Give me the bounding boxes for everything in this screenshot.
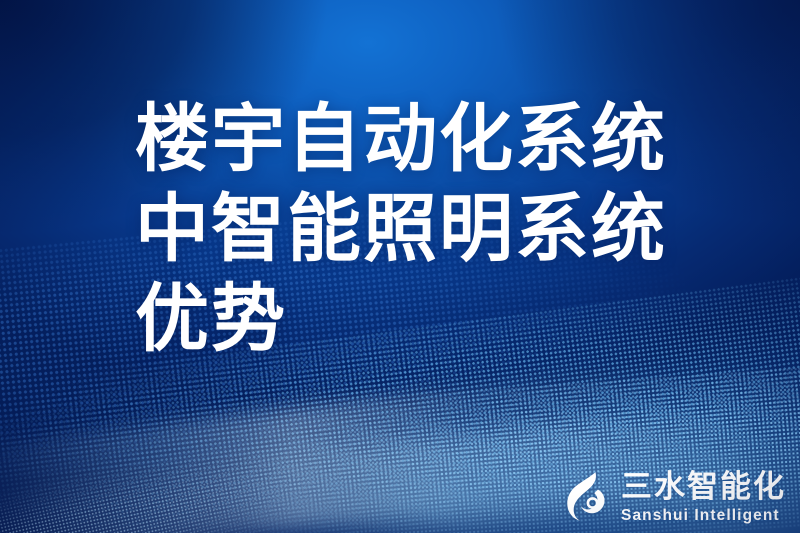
page-title: 楼宇自动化系统 中智能照明系统 优势 (135, 94, 715, 364)
page-title-line-1: 楼宇自动化系统 (135, 94, 715, 184)
brand-logo: 三水智能化 Sanshui Intelligent (565, 471, 786, 524)
page-title-line-2: 中智能照明系统 (135, 184, 715, 274)
brand-name-cn: 三水智能化 (621, 471, 786, 502)
brand-logo-text: 三水智能化 Sanshui Intelligent (621, 471, 786, 524)
promo-banner: 楼宇自动化系统 中智能照明系统 优势 三水智能化 Sanshui Intelli… (0, 0, 800, 533)
sanshui-flame-droplet-icon (565, 471, 611, 523)
brand-name-en: Sanshui Intelligent (621, 508, 780, 524)
page-title-line-3: 优势 (135, 274, 715, 364)
